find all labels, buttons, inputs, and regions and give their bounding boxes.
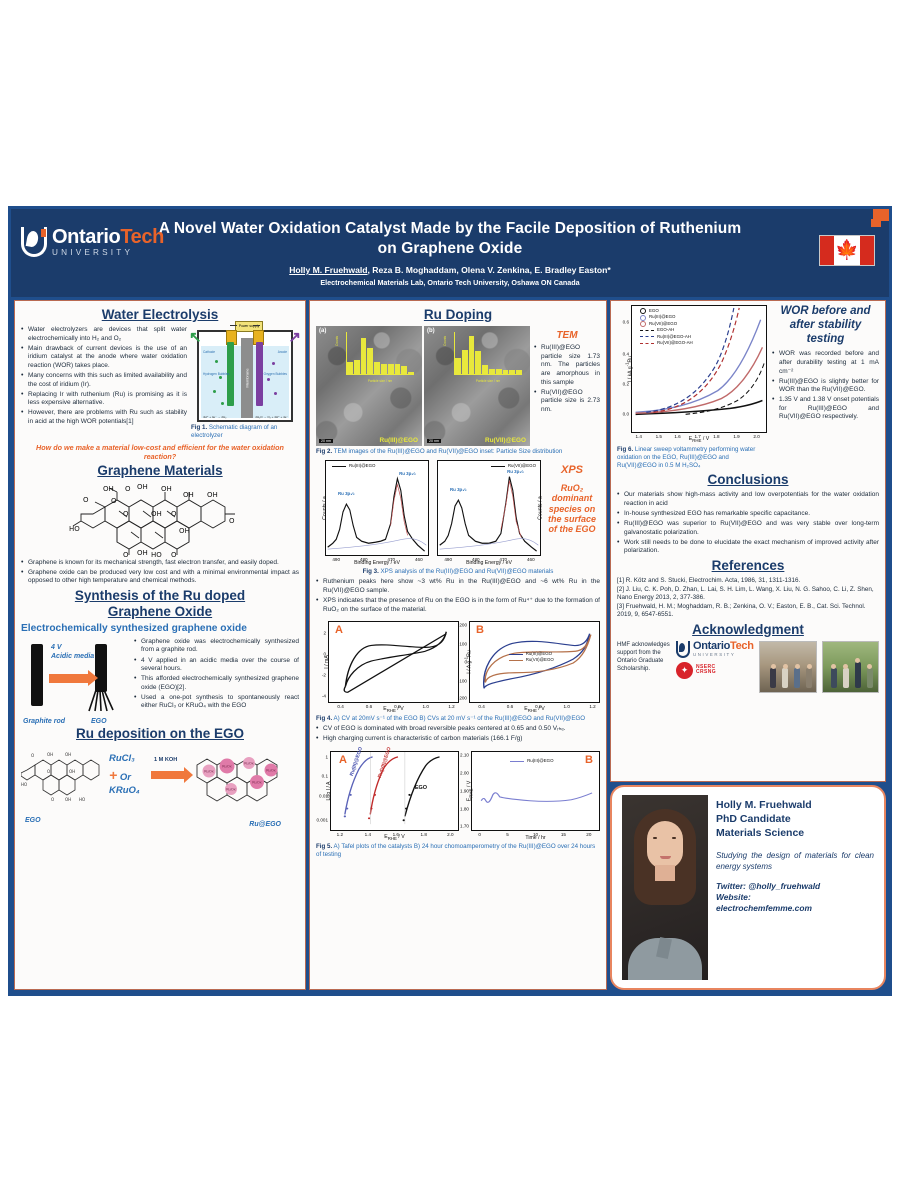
chrono-ytick: 1.90 — [460, 788, 469, 793]
list-item: CV of EGO is dominated with broad revers… — [316, 725, 600, 734]
poster-title-line2: on Graphene Oxide — [140, 239, 760, 258]
svg-text:OH: OH — [179, 527, 190, 535]
cv-b-ytick: 200 — [459, 623, 467, 628]
list-item: Water electrolyzers are devices that spl… — [21, 326, 187, 343]
deposition-arrow-icon — [151, 771, 185, 779]
conclusions-list: Our materials show high-mass activity an… — [617, 491, 879, 556]
fig3-caption: Fig 3. XPS analysis of the Ru(III)@EGO a… — [316, 568, 600, 576]
svg-text:O: O — [51, 797, 54, 802]
author-list: Holly M. Fruehwald, Reza B. Moghaddam, O… — [140, 265, 760, 275]
conference-poster: OntarioTech UNIVERSITY A Novel Water Oxi… — [8, 206, 892, 996]
lsv-ytick: 0.4 — [623, 351, 629, 356]
cv-a-ytick: 2 — [323, 631, 326, 636]
lsv-ytick: 0.0 — [623, 412, 629, 417]
left-column: Water Electrolysis Water electrolyzers a… — [14, 300, 306, 990]
fig6-caption: Fig 6. Linear sweep voltammetry performi… — [617, 446, 767, 470]
svg-text:RuOx: RuOx — [222, 765, 232, 769]
cv-b-legend: Ru(III)@EGO Ru(VII)@EGO — [509, 651, 554, 664]
o2-out-arrow-icon: ↗ — [288, 328, 301, 346]
presenter-headshot — [622, 795, 708, 980]
svg-text:O: O — [123, 510, 129, 518]
svg-text:OH: OH — [65, 752, 71, 757]
group-photo-2 — [822, 641, 880, 693]
cv-a-ytick: -2 — [322, 672, 326, 677]
lsv-xlabel: ERHE / V — [632, 436, 766, 443]
reference-item: [2] J. Liu, C. K. Poh, D. Zhan, L. Lai, … — [617, 586, 879, 603]
cathode-reaction: 4H⁺ + 4e⁻ → 2H₂ — [203, 415, 226, 419]
cv-a-ytick: 0 — [323, 652, 326, 657]
reagent-or: Or — [120, 772, 131, 783]
ontario-tech-logo: OntarioTech UNIVERSITY — [21, 227, 164, 257]
xps-plot-a: Counts / a Ru(III)@EGO Ru 3p₁⁄₂ — [325, 460, 429, 556]
graphene-oxide-structure-diagram: OHOOH OHOHOH OHOO OOHO OHOOH HOOO — [67, 483, 253, 557]
cv-b-ytick: -200 — [458, 696, 467, 701]
svg-text:OH: OH — [47, 752, 53, 757]
tafel-plot-a: A Log I / A — [330, 751, 459, 831]
list-item: Our materials show high-mass activity an… — [617, 491, 879, 508]
lsv-plot-fig6: I / kA g-1Ru EGO Ru(III)@EGO Ru(VII)@EGO… — [631, 305, 767, 433]
list-item: Many concerns with this such as limited … — [21, 372, 187, 389]
svg-text:HO: HO — [151, 551, 162, 557]
xps-a-peak2-label: Ru 3p₃⁄₂ — [399, 471, 416, 476]
list-item: Ru(III)@EGO was superior to Ru(VII)@EGO … — [617, 520, 879, 537]
histogram-xlabel-b: Particle size / nm — [454, 379, 522, 383]
list-item: Graphene oxide was electrochemically syn… — [134, 638, 299, 655]
svg-text:RuOx: RuOx — [266, 769, 276, 773]
xps-a-peak1-label: Ru 3p₁⁄₂ — [338, 491, 355, 496]
svg-text:OH: OH — [151, 510, 162, 518]
section-title-ru-doping: Ru Doping — [316, 307, 600, 323]
bio-name: Holly M. Fruehwald PhD Candidate Materia… — [716, 799, 874, 841]
svg-text:RuOx: RuOx — [244, 762, 254, 766]
cathode-label: Cathode — [203, 350, 215, 354]
lsv-ytick: 0.2 — [623, 382, 629, 387]
tem-panel-label-a: (a) — [319, 328, 326, 334]
svg-text:OH: OH — [207, 491, 218, 499]
graphene-materials-bullets: Graphene is known for its mechanical str… — [21, 559, 299, 586]
list-item: Graphene oxide can be produced very low … — [21, 569, 299, 586]
list-item: Used a one-pot synthesis to spontaneousl… — [134, 694, 299, 711]
coauthors: , Reza B. Moghaddam, Olena V. Zenkina, E… — [368, 265, 611, 275]
section-title-references: References — [617, 558, 879, 574]
ru-at-ego-label: Ru@EGO — [249, 821, 281, 829]
ontario-tech-mark-icon-small — [676, 641, 690, 658]
nserc-mark-icon: ✦ — [676, 662, 693, 679]
svg-text:HO: HO — [69, 525, 80, 533]
synthesis-bullets: Graphene oxide was electrochemically syn… — [134, 638, 299, 711]
section-title-graphene-materials: Graphene Materials — [21, 463, 299, 479]
svg-text:OH: OH — [69, 769, 75, 774]
reference-item: [3] Fruehwald, H. M.; Moghaddam, R. B.; … — [617, 603, 879, 620]
list-item: Ru(III)@EGO particle size 1.73 nm. The p… — [534, 344, 600, 387]
list-item: In-house synthesized EGO has remarkable … — [617, 510, 879, 519]
svg-text:HO: HO — [21, 782, 27, 787]
tafel-ytick: 1 — [325, 754, 328, 759]
svg-text:RuOx: RuOx — [204, 770, 214, 774]
tem-panel-label-b: (b) — [427, 328, 435, 334]
nserc-logo: ✦ NSERCCRSNG — [676, 662, 754, 679]
section-title-wor: WOR before and after stability testing — [772, 305, 879, 346]
cv-plot-b: B I / A g-1Ru 200 100 0 -100 -200 — [469, 621, 600, 703]
tem-sample-tag-a: Ru(III)@EGO — [379, 437, 418, 444]
hydrogen-bubbles-label: Hydrogen Bubbles — [203, 372, 229, 376]
xps-plot-b: Counts / a Ru(VII)@EGO Ru 3p₁⁄₂ — [437, 460, 541, 556]
list-item: However, there are problems with Ru such… — [21, 409, 187, 426]
water-electrolysis-bullets: Water electrolyzers are devices that spl… — [21, 326, 187, 426]
svg-text:OH: OH — [103, 485, 114, 493]
reference-item: [1] R. Kötz and S. Stucki, Electrochim. … — [617, 577, 879, 586]
svg-text:O: O — [31, 753, 34, 758]
middle-column: Ru Doping (a) — [309, 300, 607, 990]
tafel-ytick: 0.1 — [322, 774, 328, 779]
svg-text:RuOx: RuOx — [252, 781, 262, 785]
header-text-block: A Novel Water Oxidation Catalyst Made by… — [140, 219, 760, 287]
tafel-ytick: 0.01 — [319, 794, 328, 799]
group-photo-1 — [759, 641, 817, 693]
ego-label: EGO — [91, 718, 107, 726]
xps-key-message: RuO₂ dominant species on the surface of … — [544, 483, 600, 535]
section-title-acknowledgment: Acknowledgment — [617, 622, 879, 638]
svg-text:O: O — [171, 551, 177, 557]
chronoamperometry-plot-b: B ERHE / V Ru(III)@EGO 2.10 2.00 1.90 — [471, 751, 600, 831]
list-item: Ruthenium peaks here show ~3 wt% Ru in t… — [316, 578, 600, 595]
histogram-xlabel-a: Particle size / nm — [346, 379, 414, 383]
website-url[interactable]: electrochemfemme.com — [716, 903, 874, 914]
presenter-bio-card: Holly M. Fruehwald PhD Candidate Materia… — [610, 785, 886, 990]
histogram-bars-b — [455, 334, 522, 374]
reagent-kruo4: KRuO₄ — [109, 785, 140, 796]
fig5-caption: Fig 5. A) Tafel plots of the catalysts B… — [316, 843, 600, 859]
tem-image-b: (b) Counts Particle size / — [424, 326, 530, 446]
corner-accent-2 — [871, 219, 881, 227]
acknowledgment-row: HMF acknowledges support from the Ontari… — [617, 641, 879, 693]
tafel-ytick: 0.001 — [317, 818, 329, 823]
ontario-tech-logo-small: OntarioTech UNIVERSITY — [676, 641, 754, 658]
xps-b-xlabel: Binding Energy / eV — [438, 560, 540, 566]
wor-bullets: WOR was recorded before and after durabi… — [772, 350, 879, 422]
list-item: High charging current is characteristic … — [316, 735, 600, 744]
poster-title-line1: A Novel Water Oxidation Catalyst Made by… — [140, 219, 760, 238]
list-item: 1.35 V and 1.38 V onset potentials for R… — [772, 396, 879, 422]
canada-flag-icon: 🍁 — [819, 235, 875, 266]
xps-b-peak1-label: Ru 3p₁⁄₂ — [450, 487, 467, 492]
ego-sheet-icon: OOHOH HOOOH HOOOH — [21, 751, 107, 803]
poster-columns: Water Electrolysis Water electrolyzers a… — [11, 297, 889, 993]
bio-links: Twitter: @holly_fruehwald Website: elect… — [716, 881, 874, 914]
ru-at-ego-sheet-icon: RuOxRuOxRuOx RuOxRuOxRuOx — [187, 751, 297, 803]
twitter-handle[interactable]: Twitter: @holly_fruehwald — [716, 881, 874, 892]
xps-a-xlabel: Binding Energy / eV — [326, 560, 428, 566]
reagents: RuCl₃ + Or KRuO₄ — [109, 753, 140, 798]
anode-label: Anode — [278, 350, 287, 354]
list-item: Main drawback of current devices is the … — [21, 345, 187, 371]
reaction-condition: 1 M KOH — [154, 757, 177, 763]
particle-size-histogram-b: Counts Particle size / nm — [444, 332, 522, 384]
bio-tagline: Studying the design of materials for cle… — [716, 850, 874, 872]
svg-text:OH: OH — [137, 549, 148, 557]
chrono-ytick: 1.80 — [460, 806, 469, 811]
electrolyzer-diagram: Membrane Power supply — [197, 330, 293, 422]
website-label: Website: — [716, 892, 874, 903]
acknowledgment-text: HMF acknowledges support from the Ontari… — [617, 641, 671, 673]
plus-icon: + — [109, 767, 117, 783]
ego-exfoliation-icon — [87, 690, 115, 712]
list-item: XPS indicates that the presence of Ru on… — [316, 597, 600, 614]
svg-text:O: O — [111, 497, 117, 505]
anode-reaction: 2H₂O → O₂ + 4H⁺ + 4e⁻ — [255, 415, 288, 419]
right-content-box: I / kA g-1Ru EGO Ru(III)@EGO Ru(VII)@EGO… — [610, 300, 886, 782]
section-title-synthesis: Synthesis of the Ru doped Graphene Oxide — [21, 588, 299, 620]
scale-bar-a: 20 nm — [319, 439, 333, 443]
cv-bullets: CV of EGO is dominated with broad revers… — [316, 725, 600, 744]
svg-text:HO: HO — [79, 797, 85, 802]
research-question: How do we make a material low-cost and e… — [23, 443, 297, 461]
svg-text:OH: OH — [161, 485, 172, 493]
svg-text:OH: OH — [183, 491, 194, 499]
tem-heading: TEM — [534, 330, 600, 341]
xps-heading: XPS — [544, 464, 600, 477]
section-title-conclusions: Conclusions — [617, 472, 879, 488]
logo-word-ontario: Ontario — [52, 226, 120, 248]
cv-a-ytick: -4 — [322, 693, 326, 698]
reagent-ruCl3: RuCl₃ — [109, 753, 135, 764]
scale-bar-b: 20 nm — [427, 439, 441, 443]
svg-text:O: O — [171, 510, 177, 518]
chrono-xlabel: Time / hr — [472, 835, 599, 841]
ego-synthesis-scheme: 4 VAcidic media Graphite rod EGO — [21, 638, 129, 724]
list-item: Ru(VII)@EGO particle size is 2.73 nm. — [534, 389, 600, 415]
svg-text:O: O — [47, 769, 50, 774]
logo-subtitle: UNIVERSITY — [52, 249, 164, 257]
histogram-ylabel-b: Counts — [443, 336, 447, 346]
screenshot-canvas: OntarioTech UNIVERSITY A Novel Water Oxi… — [0, 0, 900, 1200]
histogram-bars-a — [347, 334, 414, 374]
tem-image-a: (a) Counts Particle size / — [316, 326, 422, 446]
svg-text:O: O — [229, 517, 235, 525]
cv-a-xlabel: ERHE / V — [329, 706, 458, 713]
svg-text:O: O — [123, 551, 129, 557]
list-item: Replacing Ir with ruthenium (Ru) is prom… — [21, 391, 187, 408]
presenting-author: Holly M. Fruehwald — [289, 265, 367, 275]
tem-sample-tag-b: Ru(VII)@EGO — [485, 437, 526, 444]
particle-size-histogram-a: Counts Particle size / nm — [336, 332, 414, 384]
svg-text:OH: OH — [65, 797, 71, 802]
lsv-ytick: 0.6 — [623, 320, 629, 325]
fig4-caption: Fig 4. A) CV at 20mV s⁻¹ of the EGO B) C… — [316, 715, 600, 723]
ontario-tech-mark-icon — [21, 227, 47, 257]
histogram-ylabel-a: Counts — [335, 336, 339, 346]
svg-text:OH: OH — [137, 483, 148, 491]
ru-deposition-scheme: OOHOH HOOOH HOOOH EGO RuCl₃ + Or KRuO₄ 1… — [21, 745, 299, 827]
tem-bullets: Ru(III)@EGO particle size 1.73 nm. The p… — [534, 344, 600, 414]
subsection-ego-synthesis: Electrochemically synthesized graphene o… — [21, 623, 299, 636]
list-item: This afforded electrochemically synthesi… — [134, 675, 299, 692]
cv-plot-a: A I / mA 2 0 -2 -4 0.4 0.6 — [328, 621, 459, 703]
cv-b-ytick: 0 — [464, 660, 467, 665]
graphite-rod-label: Graphite rod — [23, 718, 65, 726]
svg-text:RuOx: RuOx — [226, 788, 236, 792]
chrono-ytick: 1.70 — [460, 823, 469, 828]
xps-bullets: Ruthenium peaks here show ~3 wt% Ru in t… — [316, 578, 600, 614]
cv-b-ytick: -100 — [458, 678, 467, 683]
ego-start-label: EGO — [25, 817, 41, 825]
synthesis-arrow-icon — [49, 674, 89, 683]
cv-b-xlabel: ERHE / V — [470, 706, 599, 713]
chrono-ytick: 2.00 — [460, 770, 469, 775]
cv-b-ytick: 100 — [459, 641, 467, 646]
tafel-series-label-ego: EGO — [415, 785, 427, 791]
fig1-caption: Fig 1. Schematic diagram of an electroly… — [191, 424, 299, 440]
xps-b-peak2-label: Ru 3p₃⁄₂ — [507, 469, 524, 474]
fig2-caption: Fig 2. TEM images of the Ru(III)@EGO and… — [316, 448, 600, 456]
list-item: Work still needs to be done to elucidate… — [617, 539, 879, 556]
list-item: Ru(III)@EGO is slightly better for WOR t… — [772, 378, 879, 395]
logo-word-tech: Tech — [120, 226, 164, 248]
section-title-ru-deposition: Ru deposition on the EGO — [21, 726, 299, 742]
chrono-ytick: 2.10 — [460, 752, 469, 757]
h2-out-arrow-icon: ↖ — [189, 328, 202, 346]
right-column: I / kA g-1Ru EGO Ru(III)@EGO Ru(VII)@EGO… — [610, 300, 886, 990]
poster-header: OntarioTech UNIVERSITY A Novel Water Oxi… — [11, 209, 889, 297]
tafel-xlabel: ERHE / V — [331, 834, 458, 841]
references-list: [1] R. Kötz and S. Stucki, Electrochim. … — [617, 577, 879, 620]
graphite-rod-icon — [31, 644, 43, 706]
affiliation: Electrochemical Materials Lab, Ontario T… — [140, 278, 760, 287]
list-item: 4 V applied in an acidic media over the … — [134, 657, 299, 674]
list-item: Graphene is known for its mechanical str… — [21, 559, 299, 568]
svg-text:O: O — [83, 496, 89, 504]
svg-text:O: O — [125, 485, 131, 493]
membrane-label: Membrane — [245, 369, 250, 388]
list-item: WOR was recorded before and after durabi… — [772, 350, 879, 376]
oxygen-bubbles-label: Oxygen Bubbles — [264, 372, 287, 376]
